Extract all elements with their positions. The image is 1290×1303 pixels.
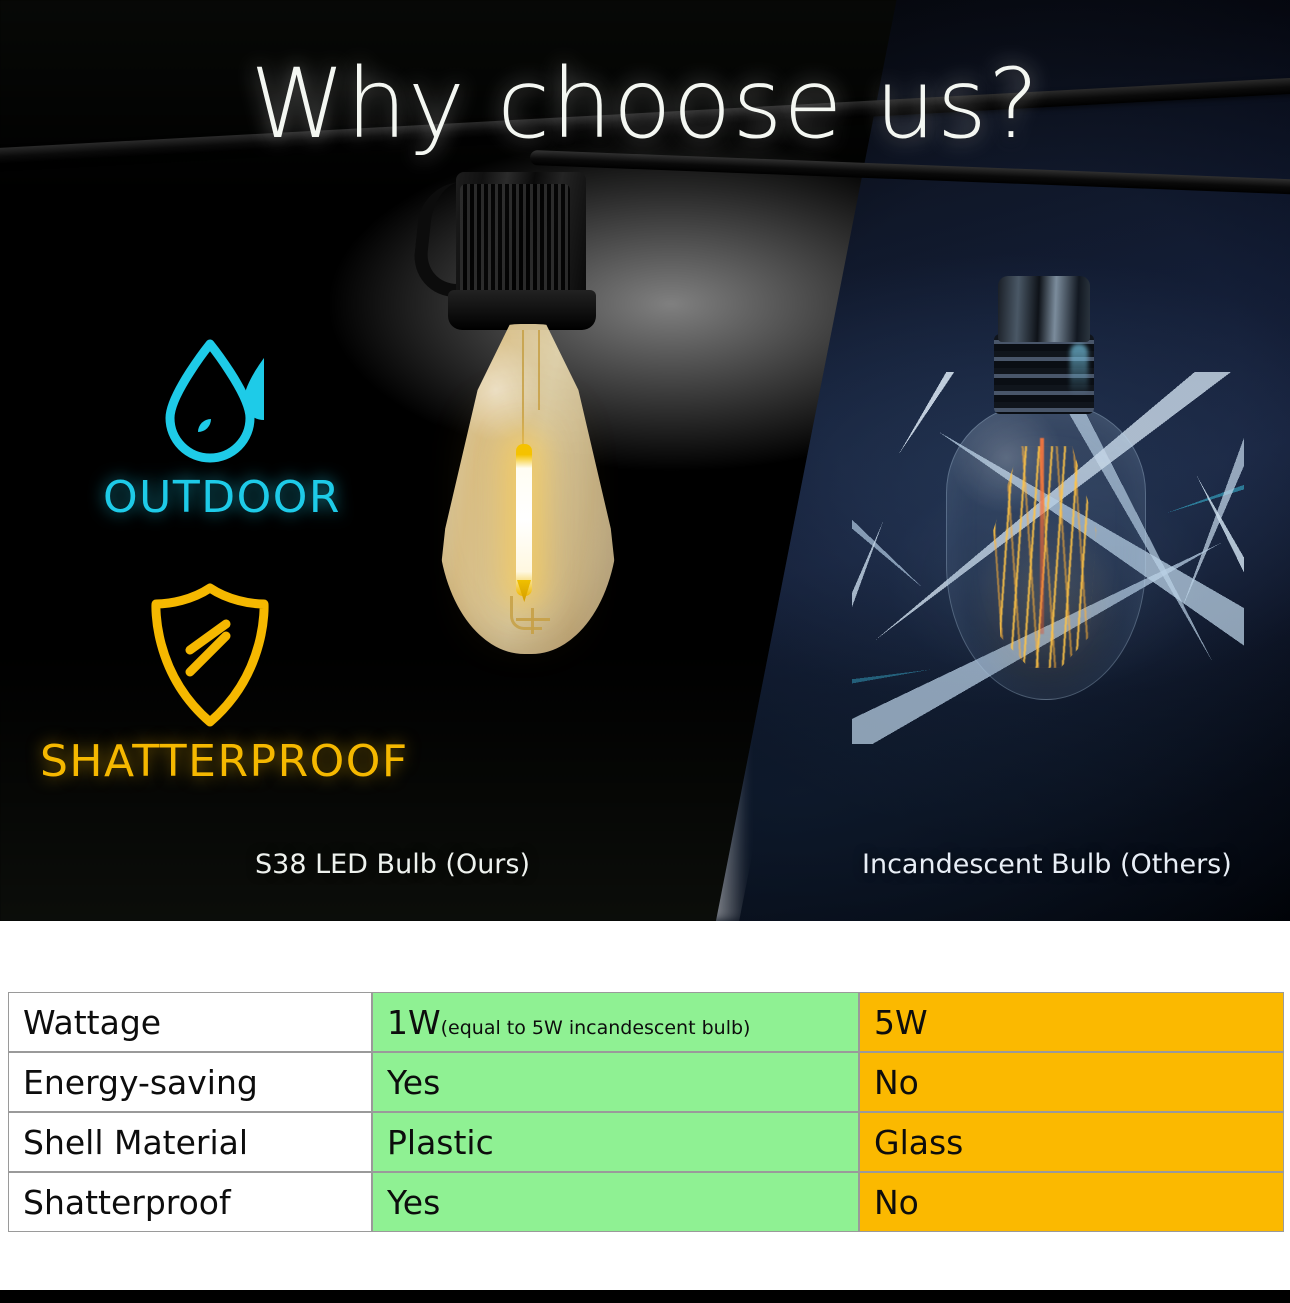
incandescent-bulb-image — [898, 276, 1198, 776]
led-filament-lead-a — [522, 330, 524, 448]
table-row: Wattage 1W(equal to 5W incandescent bulb… — [8, 992, 1284, 1052]
product-comparison-infographic: Why choose us? OUTDOOR SHATTERP — [0, 0, 1290, 1303]
row-label-shatterproof: Shatterproof — [8, 1172, 372, 1232]
feature-shatterproof: SHATTERPROOF — [40, 580, 380, 787]
led-filament-glow — [516, 444, 532, 596]
water-drop-icon — [152, 336, 292, 464]
caption-ours: S38 LED Bulb (Ours) — [255, 849, 530, 880]
table-row: Shatterproof Yes No — [8, 1172, 1284, 1232]
page-title: Why choose us? — [0, 48, 1290, 160]
led-filament-stem — [510, 596, 542, 630]
row-others-shell-material: Glass — [859, 1112, 1284, 1172]
feature-outdoor-label: OUTDOOR — [92, 472, 352, 523]
ours-value-sub: (equal to 5W incandescent bulb) — [441, 1017, 751, 1039]
incandescent-filament-core — [1040, 438, 1044, 634]
ours-value-main: 1W — [387, 1003, 441, 1042]
shield-icon — [140, 580, 280, 730]
comparison-table-body: Wattage 1W(equal to 5W incandescent bulb… — [8, 992, 1284, 1232]
table-row: Energy-saving Yes No — [8, 1052, 1284, 1112]
table-row: Shell Material Plastic Glass — [8, 1112, 1284, 1172]
row-ours-shatterproof: Yes — [372, 1172, 859, 1232]
feature-outdoor: OUTDOOR — [92, 336, 352, 523]
comparison-table: Wattage 1W(equal to 5W incandescent bulb… — [8, 992, 1284, 1232]
bulb-socket-ribs — [460, 184, 570, 296]
row-ours-shell-material: Plastic — [372, 1112, 859, 1172]
led-bulb-image — [398, 172, 698, 792]
feature-shatterproof-label: SHATTERPROOF — [40, 736, 380, 787]
row-label-wattage: Wattage — [8, 992, 372, 1052]
row-others-shatterproof: No — [859, 1172, 1284, 1232]
row-others-energy-saving: No — [859, 1052, 1284, 1112]
row-label-shell-material: Shell Material — [8, 1112, 372, 1172]
led-filament-lead-b — [538, 330, 540, 410]
row-ours-energy-saving: Yes — [372, 1052, 859, 1112]
caption-others: Incandescent Bulb (Others) — [862, 849, 1232, 880]
hero-photo-panel: Why choose us? OUTDOOR SHATTERP — [0, 0, 1290, 921]
incandescent-screw-thread — [994, 334, 1094, 414]
row-others-wattage: 5W — [859, 992, 1284, 1052]
led-stem-cross-v — [531, 608, 534, 634]
row-ours-wattage: 1W(equal to 5W incandescent bulb) — [372, 992, 859, 1052]
incandescent-cap — [998, 276, 1090, 342]
bottom-black-bar — [0, 1290, 1290, 1303]
row-label-energy-saving: Energy-saving — [8, 1052, 372, 1112]
